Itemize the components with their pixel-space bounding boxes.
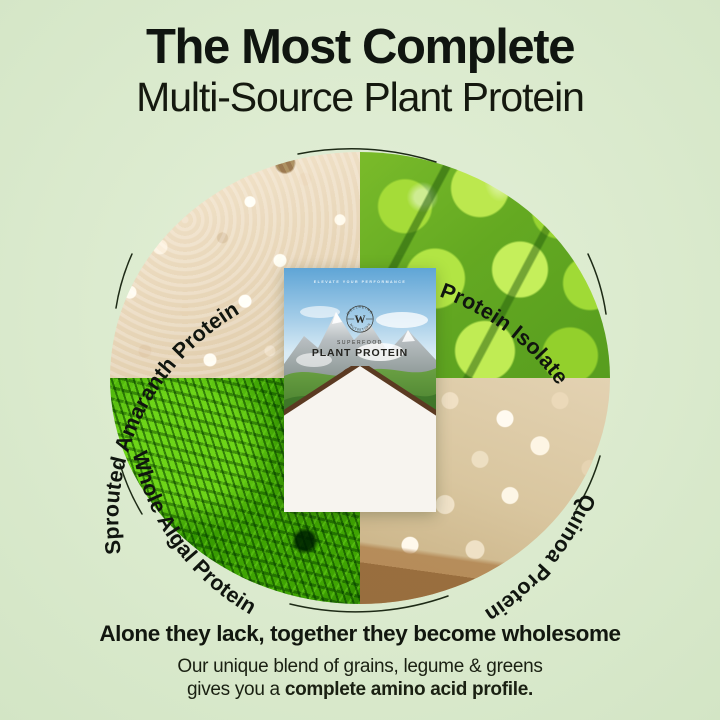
headline-block: The Most Complete Multi-Source Plant Pro… bbox=[0, 22, 720, 121]
footer-sub-line1: Our unique blend of grains, legume & gre… bbox=[0, 655, 720, 679]
pouch-eyebrow: SUPERFOOD bbox=[284, 340, 436, 346]
pouch-label-panel bbox=[284, 366, 436, 512]
label-whole-algal-protein: Whole Algal Protein bbox=[128, 449, 261, 620]
headline-primary: The Most Complete bbox=[0, 22, 720, 73]
product-pouch[interactable]: ELEVATE YOUR PERFORMANCE WELLBEING NUTRI… bbox=[284, 268, 436, 512]
footer-sub-line2-pre: gives you a bbox=[187, 679, 285, 700]
footer-lead: Alone they lack, together they become wh… bbox=[0, 620, 720, 647]
label-whole-algal-protein-text: Whole Algal Protein bbox=[128, 449, 261, 620]
panel-white-shape bbox=[284, 366, 436, 512]
footer-sub-line2-strong: complete amino acid profile. bbox=[285, 679, 533, 700]
pouch-tagline: ELEVATE YOUR PERFORMANCE bbox=[284, 280, 436, 284]
label-quinoa-protein: Quinoa Protein bbox=[481, 491, 600, 627]
logo-monogram: W bbox=[354, 314, 365, 326]
footer-subtext: Our unique blend of grains, legume & gre… bbox=[0, 655, 720, 703]
footer-block: Alone they lack, together they become wh… bbox=[0, 620, 720, 703]
label-quinoa-protein-text: Quinoa Protein bbox=[481, 491, 600, 627]
poster-canvas: The Most Complete Multi-Source Plant Pro… bbox=[0, 0, 720, 720]
wellbeing-nutrition-logo-icon: WELLBEING NUTRITION W bbox=[343, 302, 377, 336]
pouch-product-name: PLANT PROTEIN bbox=[284, 347, 436, 359]
headline-secondary: Multi-Source Plant Protein bbox=[0, 75, 720, 121]
footer-sub-line2: gives you a complete amino acid profile. bbox=[0, 678, 720, 702]
